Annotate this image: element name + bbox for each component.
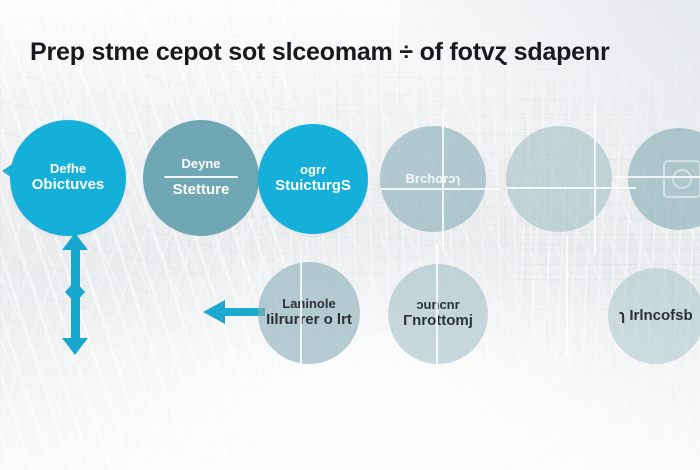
slide-canvas: Prep stme cepot sot slceomam ÷ of fotvɀ …: [0, 0, 700, 470]
flow-node-org-structures[interactable]: ogrɾ StuicturgS: [258, 124, 368, 234]
gear-icon: [663, 160, 700, 198]
flow-node-laninole[interactable]: Laninole Iilrurrer o lrt: [258, 262, 360, 364]
flow-node-label-bottom: Iilrurrer o lrt: [260, 312, 358, 329]
flow-node-label-bottom: StuicturgS: [269, 178, 357, 195]
flow-node-label-bottom: ɿ Irlncofsb: [613, 308, 698, 325]
flow-node-label-top: Defhe: [44, 162, 92, 177]
flow-node-label-top: ɔuncnr: [410, 298, 465, 313]
flow-node-branch[interactable]: Brchorɔɿ: [380, 126, 486, 232]
flow-node-label-bottom: Γnrottomj: [397, 313, 479, 330]
flow-node-label-top: ogrɾ: [294, 163, 332, 178]
page-title: Prep stme cepot sot slceomam ÷ of fotvɀ …: [30, 38, 690, 67]
flow-node-label-top: Deyne: [175, 157, 226, 172]
flow-node-introduce[interactable]: ɿ Irlncofsb: [608, 268, 700, 364]
flow-node-label-bottom: Stetture: [167, 182, 236, 199]
flow-node-divider-rule: [164, 176, 238, 178]
vertical-double-arrow-icon: [62, 233, 88, 355]
flow-node-label-top: Brchorɔɿ: [400, 172, 467, 187]
flow-node-unlabeled-five[interactable]: [506, 126, 612, 232]
flow-node-label-top: Laninole: [276, 297, 341, 312]
flow-node-promotion[interactable]: ɔuncnr Γnrottomj: [388, 264, 488, 364]
flow-node-define-objectives[interactable]: Defhe Obictuves: [10, 120, 126, 236]
flow-node-label-bottom: Obictuves: [26, 177, 111, 194]
flow-node-define-structure[interactable]: Deyne Stetture: [143, 120, 259, 236]
arrow-left-icon: [203, 300, 265, 324]
